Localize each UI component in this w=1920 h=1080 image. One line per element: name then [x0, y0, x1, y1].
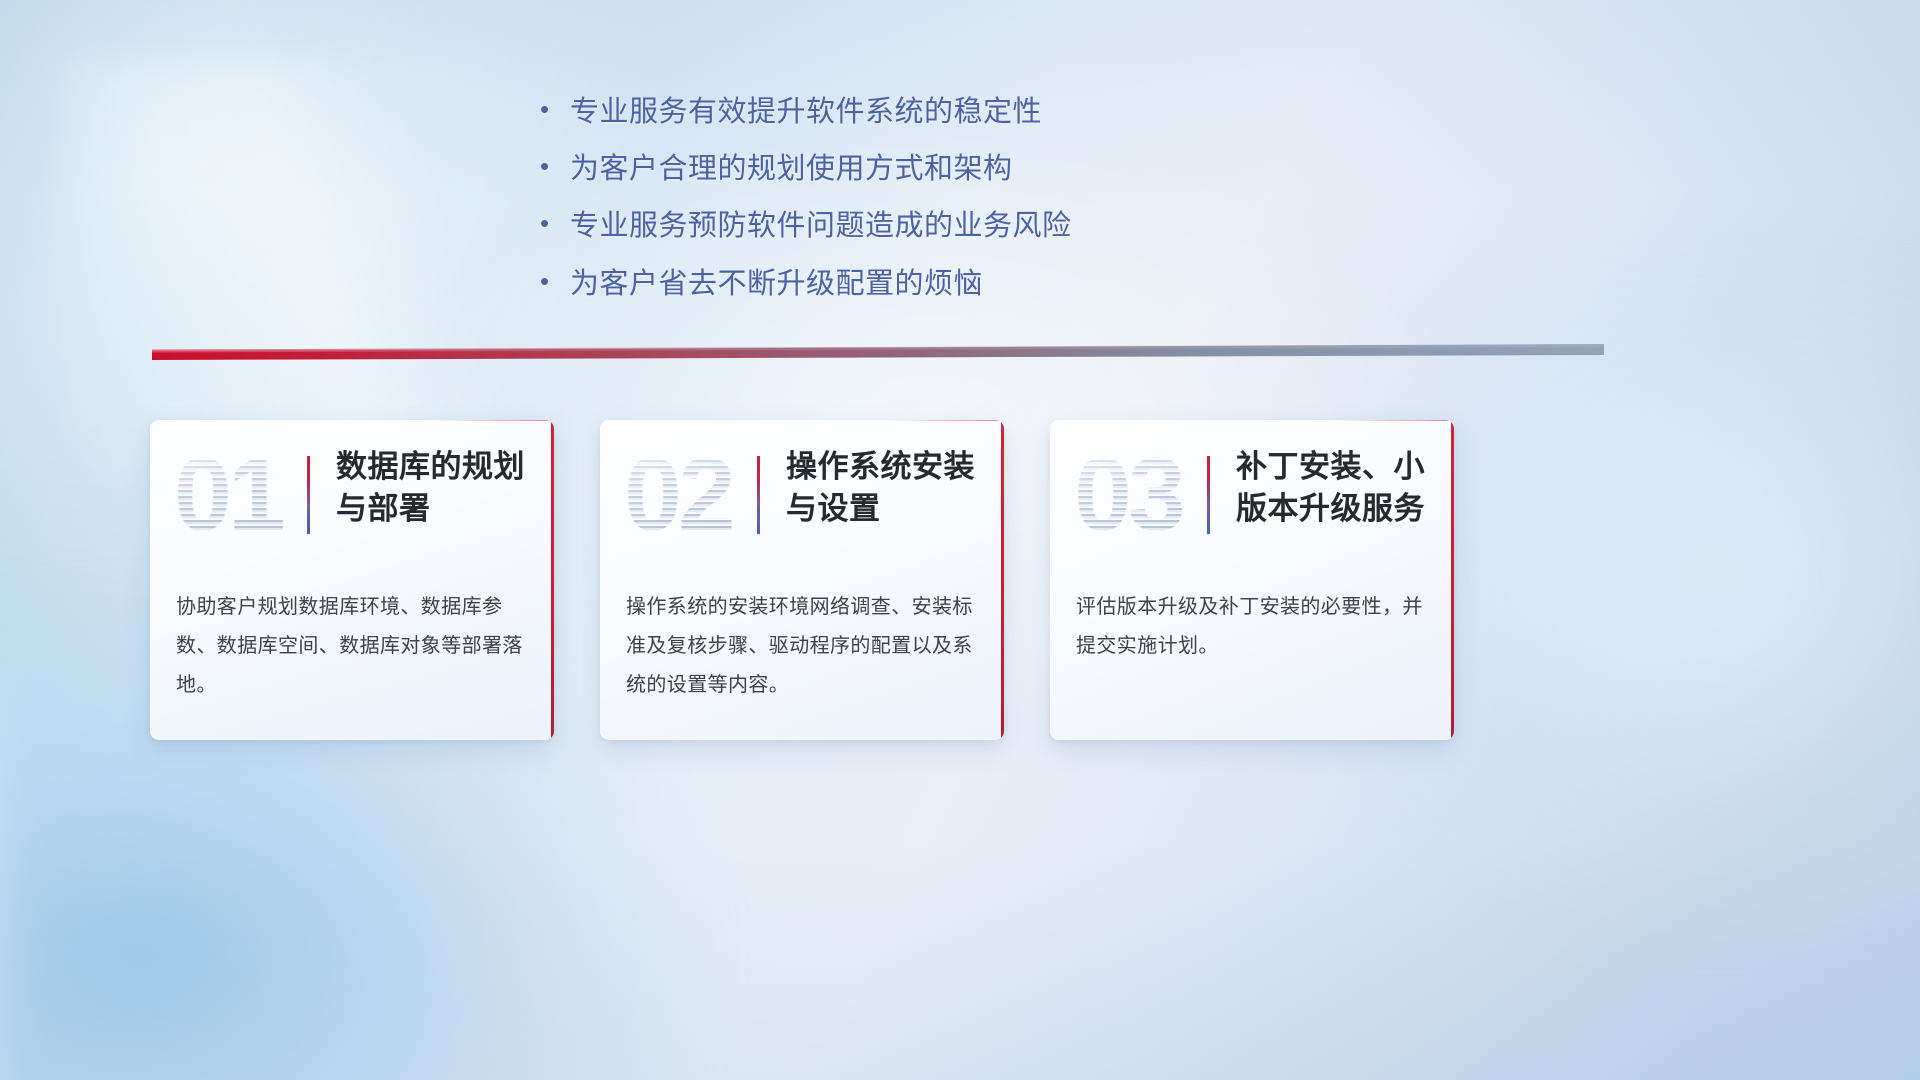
card-header: 03 补丁安装、小版本升级服务 — [1050, 420, 1454, 580]
card-title: 数据库的规划与部署 — [336, 446, 540, 530]
bullet-dot-icon: • — [540, 210, 570, 236]
card-title: 补丁安装、小版本升级服务 — [1236, 446, 1440, 530]
bullet-text: 专业服务预防软件问题造成的业务风险 — [570, 206, 1072, 247]
service-card[interactable]: 03 补丁安装、小版本升级服务 评估版本升级及补丁安装的必要性，并提交实施计划。 — [1050, 420, 1454, 740]
benefits-bullet-list: • 专业服务有效提升软件系统的稳定性 • 为客户合理的规划使用方式和架构 • 专… — [540, 92, 1260, 321]
card-title-divider — [1207, 456, 1210, 534]
card-number-decoration: 02 — [622, 442, 752, 552]
service-cards: 01 数据库的规划与部署 协助客户规划数据库环境、数据库参数、数据库空间、数据库… — [150, 420, 1454, 740]
card-body-text: 协助客户规划数据库环境、数据库参数、数据库空间、数据库对象等部署落地。 — [176, 588, 528, 705]
list-item: • 为客户省去不断升级配置的烦恼 — [540, 264, 1260, 305]
bullet-text: 为客户省去不断升级配置的烦恼 — [570, 264, 983, 305]
divider-shape-icon — [152, 344, 1604, 366]
svg-text:02: 02 — [624, 442, 732, 552]
striped-number-icon: 03 — [1072, 442, 1202, 552]
service-card[interactable]: 01 数据库的规划与部署 协助客户规划数据库环境、数据库参数、数据库空间、数据库… — [150, 420, 554, 740]
card-header: 02 操作系统安装与设置 — [600, 420, 1004, 580]
bullet-text: 专业服务有效提升软件系统的稳定性 — [570, 92, 1042, 133]
striped-number-icon: 01 — [172, 442, 302, 552]
card-title-divider — [307, 456, 310, 534]
section-divider — [152, 344, 1604, 366]
list-item: • 专业服务有效提升软件系统的稳定性 — [540, 92, 1260, 133]
card-body-text: 评估版本升级及补丁安装的必要性，并提交实施计划。 — [1076, 588, 1428, 666]
svg-text:03: 03 — [1074, 442, 1183, 552]
card-title-divider — [757, 456, 760, 534]
list-item: • 专业服务预防软件问题造成的业务风险 — [540, 206, 1260, 247]
svg-text:01: 01 — [174, 442, 283, 552]
card-title: 操作系统安装与设置 — [786, 446, 990, 530]
card-body-text: 操作系统的安装环境网络调查、安装标准及复核步骤、驱动程序的配置以及系统的设置等内… — [626, 588, 978, 705]
striped-number-icon: 02 — [622, 442, 752, 552]
service-card[interactable]: 02 操作系统安装与设置 操作系统的安装环境网络调查、安装标准及复核步骤、驱动程… — [600, 420, 1004, 740]
bullet-dot-icon: • — [540, 153, 570, 179]
list-item: • 为客户合理的规划使用方式和架构 — [540, 149, 1260, 190]
card-number-decoration: 03 — [1072, 442, 1202, 552]
card-number-decoration: 01 — [172, 442, 302, 552]
bullet-text: 为客户合理的规划使用方式和架构 — [570, 149, 1013, 190]
bullet-dot-icon: • — [540, 268, 570, 294]
card-header: 01 数据库的规划与部署 — [150, 420, 554, 580]
bullet-dot-icon: • — [540, 96, 570, 122]
